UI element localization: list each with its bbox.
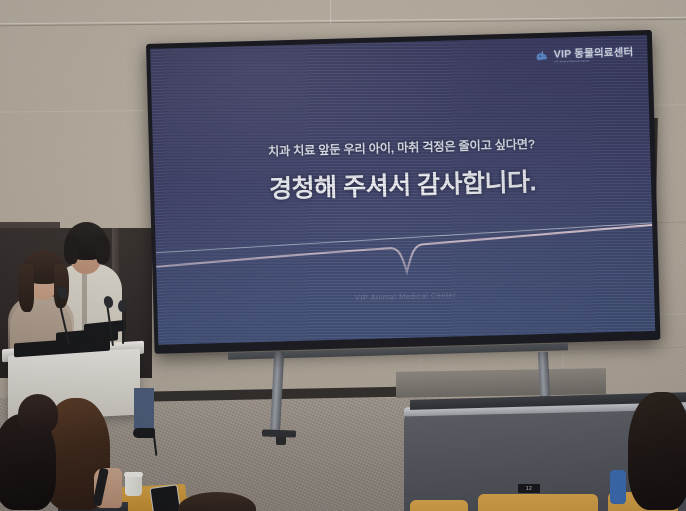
bystander-legs (134, 388, 154, 430)
slide-heading: 경청해 주셔서 감사합니다. (154, 159, 652, 209)
presentation-display[interactable]: VIP 동물의료센터 VIP Animal Medical Center 치과 … (146, 30, 660, 354)
audience-back-left (18, 394, 58, 436)
chair-number: 12 (526, 486, 532, 492)
coffee-cup (125, 475, 142, 496)
logo-sub-text: VIP Animal Medical Center (554, 59, 634, 64)
audience-hair (18, 394, 58, 434)
wall-seam (330, 0, 331, 24)
stand-caster (276, 436, 286, 445)
coffee-cup-lid (124, 472, 143, 477)
microphone-head (118, 300, 127, 312)
audience-hair (178, 492, 256, 511)
bystander-shoe (133, 428, 155, 438)
hair-side (18, 264, 34, 312)
audience-right-arm (610, 470, 626, 504)
display-screen: VIP 동물의료센터 VIP Animal Medical Center 치과 … (150, 35, 655, 345)
logo-text-block: VIP 동물의료센터 VIP Animal Medical Center (554, 47, 634, 64)
back-table (396, 368, 606, 398)
audience-right-hair (628, 392, 686, 510)
screen-gradient (155, 224, 655, 344)
audience-bottom-center (178, 492, 256, 511)
hair-side (96, 236, 110, 264)
dog-head-icon (535, 51, 550, 64)
slide-logo: VIP 동물의료센터 VIP Animal Medical Center (535, 47, 634, 64)
logo-main-text: VIP 동물의료센터 (554, 47, 634, 60)
slide-subheading: 치과 치료 앞둔 우리 아이, 마취 걱정은 줄이고 싶다면? (153, 131, 650, 163)
chair-number-plate: 12 (518, 484, 540, 493)
stand-foot (262, 429, 296, 437)
audience-chair[interactable] (478, 494, 598, 511)
audience-right (628, 392, 686, 511)
lecture-hall-photo: VIP 동물의료센터 VIP Animal Medical Center 치과 … (0, 0, 686, 511)
audience-chair[interactable] (410, 500, 468, 511)
